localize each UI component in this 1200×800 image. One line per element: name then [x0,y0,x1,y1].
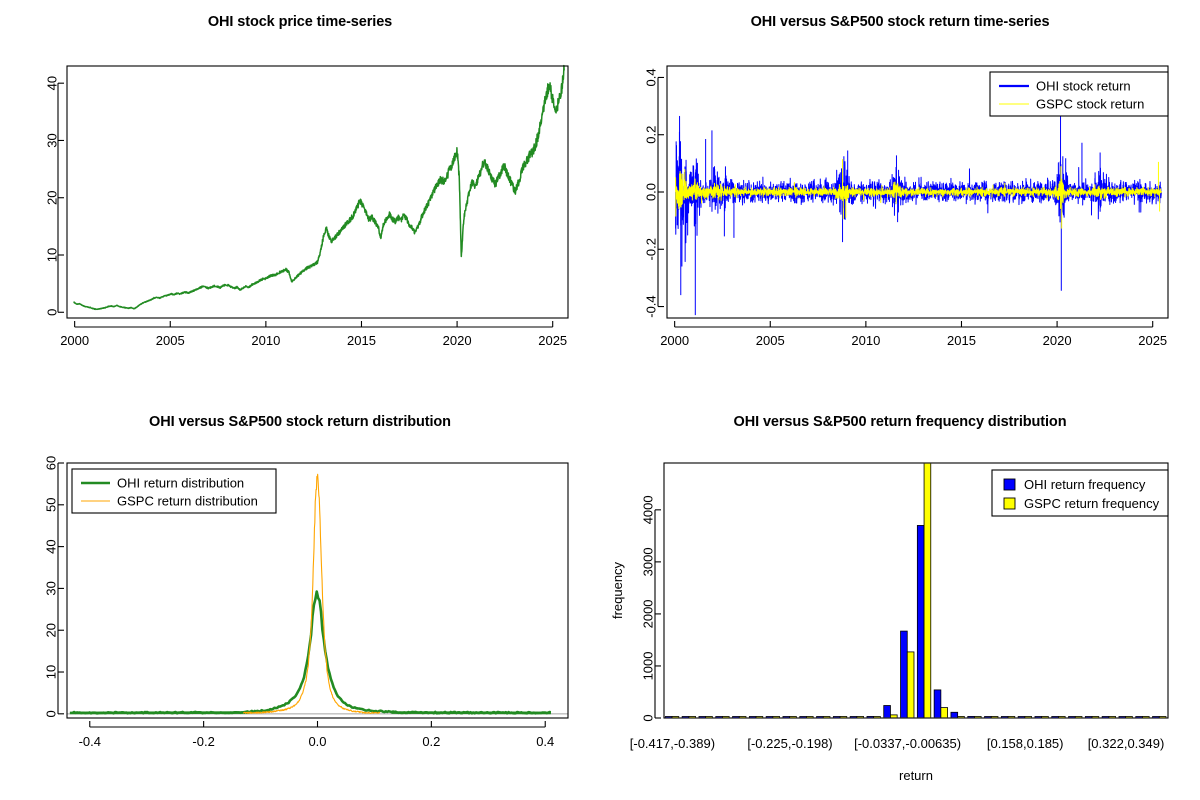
plot-ohi-gspc-return-frequency: 01000200030004000frequency[-0.417,-0.389… [600,400,1200,800]
legend-return-distribution[interactable]: OHI return distributionGSPC return distr… [72,469,276,513]
bar-ohi [951,712,958,718]
legend-label: OHI return distribution [117,476,244,491]
y-tick-label: 0.4 [644,68,659,86]
plot-area-price: 010203040200020052010201520202025 [45,66,569,348]
y-tick-label: 1000 [641,651,656,680]
series-group [676,108,1162,316]
legend-label: GSPC return frequency [1024,496,1160,511]
y-tick-label: -0.2 [644,238,659,260]
plot-area-frequency: 01000200030004000frequency[-0.417,-0.389… [610,463,1168,783]
x-tick-label: 2005 [756,333,785,348]
y-tick-label: 0 [641,714,656,721]
y-tick-label: 20 [45,190,60,204]
x-axis-title: return [899,768,933,783]
x-tick-label: 2000 [660,333,689,348]
legend-return-timeseries[interactable]: OHI stock returnGSPC stock return [990,72,1168,116]
y-tick-label: 0.0 [644,183,659,201]
x-tick-label: [-0.0337,-0.00635) [854,736,961,751]
y-tick-label: 0 [45,309,60,316]
y-tick-label: 3000 [641,547,656,576]
y-axis: 0102030405060 [44,456,65,718]
x-tick-label: 2010 [251,333,280,348]
legend-label: OHI stock return [1036,79,1131,94]
bar-ohi [901,631,908,718]
x-tick-label: 2015 [947,333,976,348]
y-tick-label: 2000 [641,599,656,628]
panel-ohi-gspc-return-timeseries: OHI versus S&P500 stock return time-seri… [600,0,1200,400]
x-tick-label: 2005 [156,333,185,348]
y-tick-label: 40 [44,539,59,553]
y-tick-label: 0 [44,710,59,717]
bar-ohi [917,525,924,718]
plot-area-distribution: 0102030405060-0.4-0.20.00.20.4OHI return… [44,456,569,749]
plot-ohi-price-timeseries: 010203040200020052010201520202025 [0,0,600,400]
y-tick-label: 30 [44,581,59,595]
plot-area-returns: -0.4-0.20.00.20.420002005201020152020202… [644,66,1169,348]
y-axis: -0.4-0.20.00.20.4 [644,68,665,317]
x-axis: 200020052010201520202025 [60,321,567,348]
legend-swatch-square [1004,479,1015,490]
x-tick-label: 0.4 [536,734,554,749]
panel-ohi-price-timeseries: OHI stock price time-series 010203040200… [0,0,600,400]
x-tick-label: [-0.417,-0.389) [630,736,715,751]
bar-gspc [907,652,914,718]
x-tick-label: 2000 [60,333,89,348]
x-axis: -0.4-0.20.00.20.4 [79,721,555,749]
legend-return-frequency[interactable]: OHI return frequencyGSPC return frequenc… [992,470,1168,516]
y-tick-label: 20 [44,623,59,637]
x-tick-label: 2015 [347,333,376,348]
x-tick-label: 2025 [538,333,567,348]
y-tick-label: 10 [44,665,59,679]
y-tick-label: -0.4 [644,295,659,317]
plot-frame [67,66,568,318]
bar-ohi [934,690,941,718]
x-tick-label: [0.158,0.185) [987,736,1064,751]
x-tick-label: -0.2 [192,734,214,749]
x-tick-label: [0.322,0.349) [1088,736,1165,751]
panel-ohi-gspc-return-distribution: OHI versus S&P500 stock return distribut… [0,400,600,800]
plot-ohi-gspc-return-timeseries: -0.4-0.20.00.20.420002005201020152020202… [600,0,1200,400]
y-tick-label: 10 [45,248,60,262]
ohi-return-series [676,108,1162,316]
y-tick-label: 60 [44,456,59,470]
y-tick-label: 30 [45,133,60,147]
bar-ohi [884,706,891,718]
x-tick-label: 0.0 [308,734,326,749]
figure-page: OHI stock price time-series 010203040200… [0,0,1200,800]
legend-label: GSPC stock return [1036,97,1144,112]
x-tick-label: -0.4 [79,734,101,749]
x-axis: 200020052010201520202025 [660,321,1167,348]
legend-label: GSPC return distribution [117,494,258,509]
y-tick-label: 50 [44,498,59,512]
x-tick-label: 2010 [851,333,880,348]
y-tick-label: 40 [45,76,60,90]
panel-ohi-gspc-return-frequency: OHI versus S&P500 return frequency distr… [600,400,1200,800]
y-axis-title: frequency [610,561,625,619]
x-tick-label: [-0.225,-0.198) [747,736,832,751]
y-axis: 010203040 [45,76,65,316]
legend-label: OHI return frequency [1024,477,1146,492]
ohi-price-line [74,66,564,310]
legend-swatch-square [1004,498,1015,509]
x-tick-label: 2025 [1138,333,1167,348]
y-axis: 01000200030004000frequency [610,495,661,721]
x-tick-label: 2020 [443,333,472,348]
plot-ohi-gspc-return-distribution: 0102030405060-0.4-0.20.00.20.4OHI return… [0,400,600,800]
y-tick-label: 0.2 [644,126,659,144]
bar-gspc [924,463,931,718]
x-tick-label: 2020 [1043,333,1072,348]
bar-gspc [941,708,948,718]
y-tick-label: 4000 [641,495,656,524]
x-axis: [-0.417,-0.389)[-0.225,-0.198)[-0.0337,-… [630,736,1165,783]
x-tick-label: 0.2 [422,734,440,749]
